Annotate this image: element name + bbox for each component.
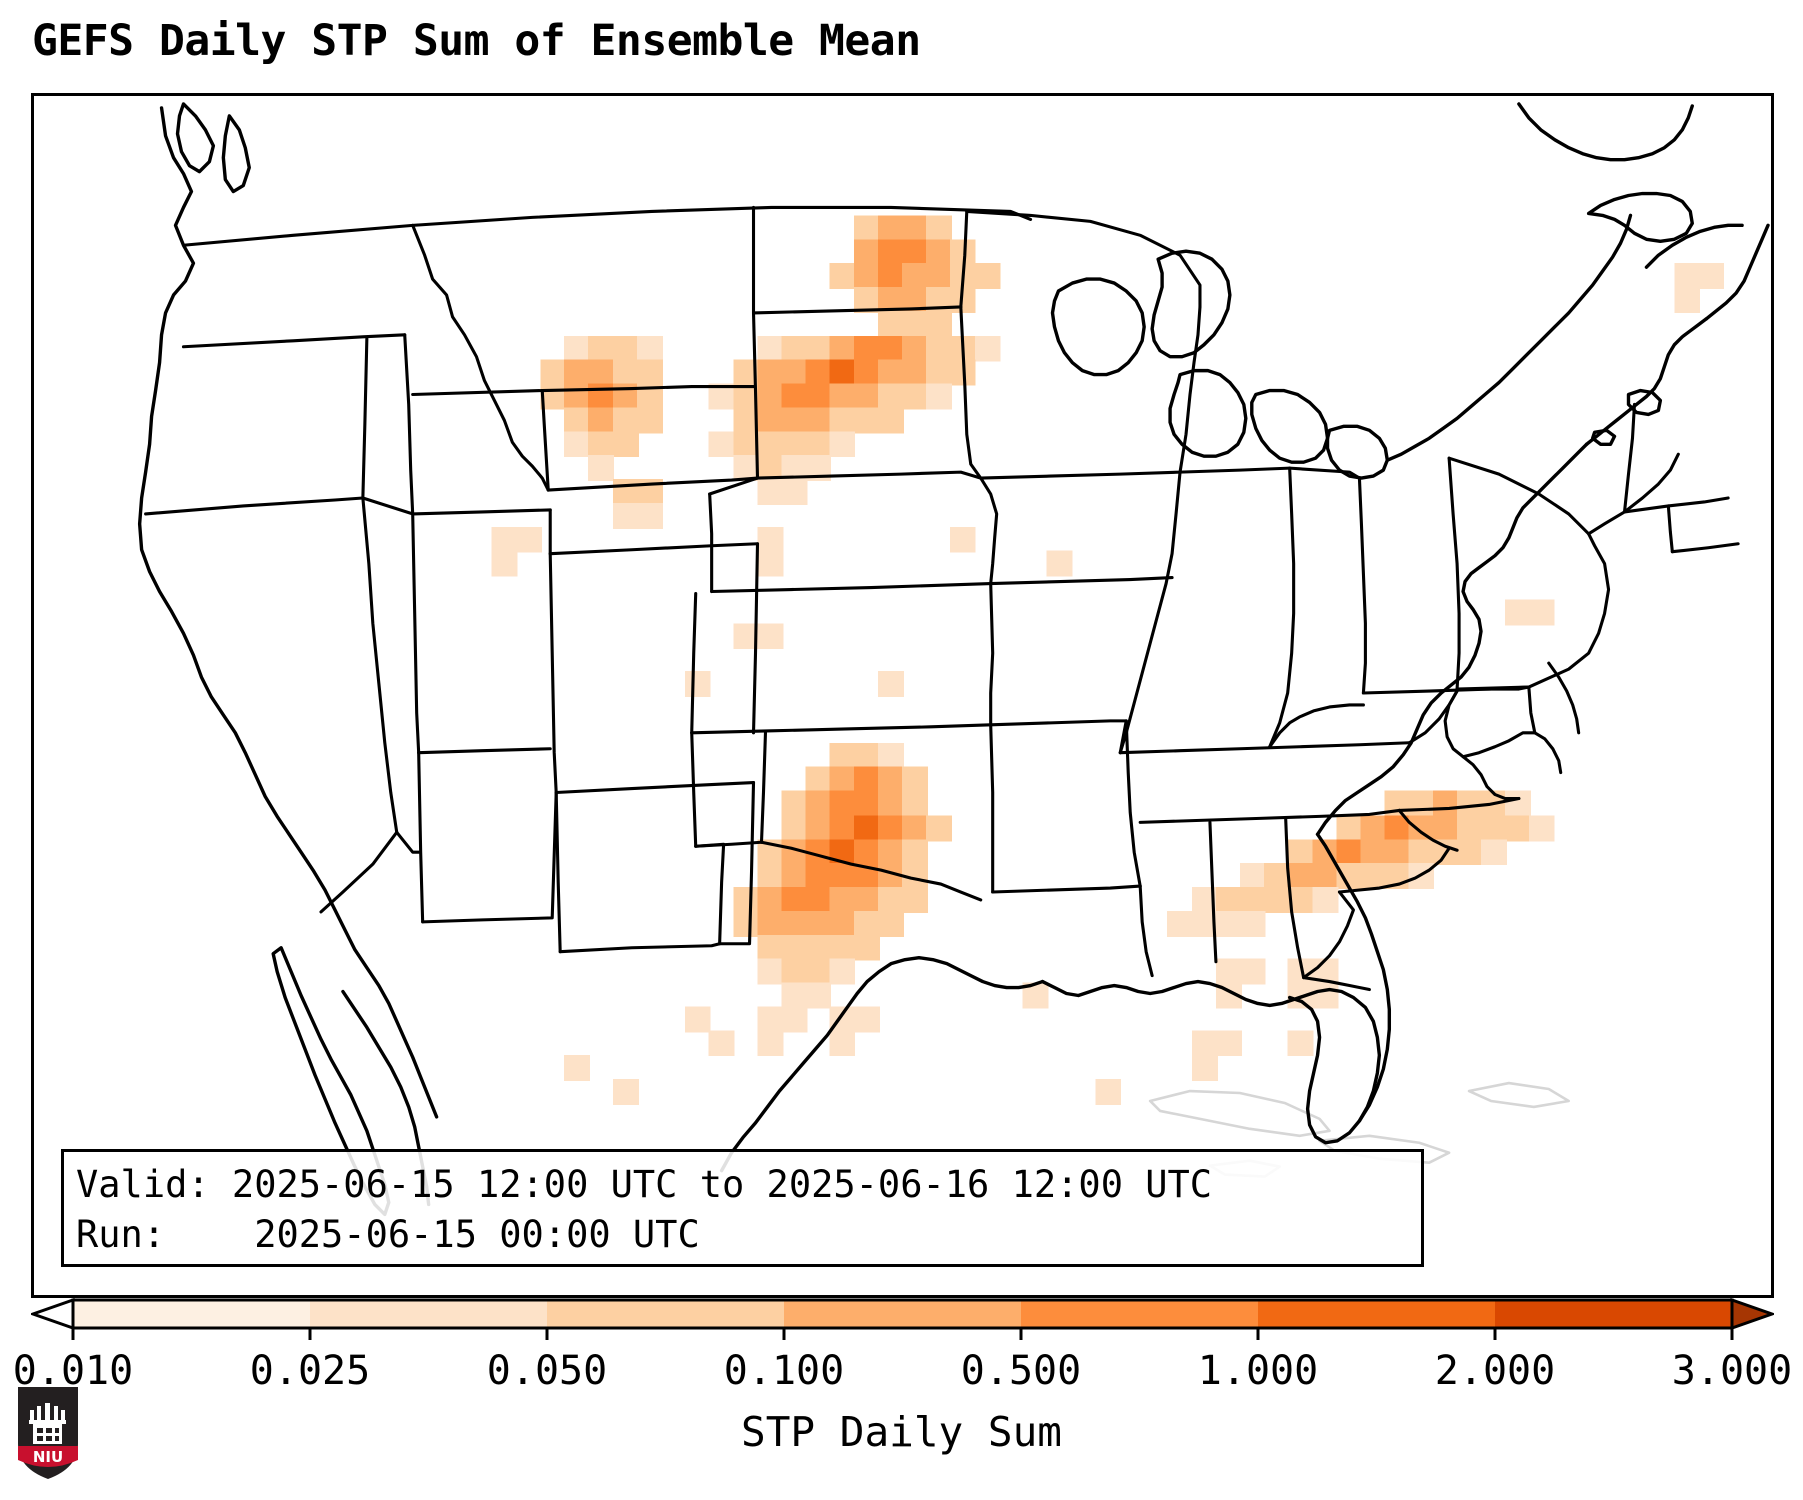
state-borders bbox=[146, 207, 1738, 989]
info-box: Valid: 2025-06-15 12:00 UTC to 2025-06-1… bbox=[61, 1149, 1424, 1267]
us-canada-mexico-coastlines bbox=[140, 104, 1768, 1214]
valid-time-text: Valid: 2025-06-15 12:00 UTC to 2025-06-1… bbox=[76, 1160, 1421, 1210]
run-time-text: Run: 2025-06-15 00:00 UTC bbox=[76, 1210, 1421, 1260]
colorbar-tick-label: 3.000 bbox=[1672, 1348, 1792, 1394]
colorbar-band bbox=[1495, 1300, 1733, 1328]
colorbar-tick-label: 0.500 bbox=[961, 1348, 1081, 1394]
colorbar-tick-label: 1.000 bbox=[1198, 1348, 1318, 1394]
map-geography-overlay bbox=[34, 96, 1771, 1295]
colorbar-tick-labels: 0.0100.0250.0500.1000.5001.0002.0003.000 bbox=[0, 1348, 1803, 1398]
colorbar-band bbox=[547, 1300, 785, 1328]
colorbar-tick-label: 2.000 bbox=[1435, 1348, 1555, 1394]
colorbar-extend-max bbox=[1732, 1300, 1772, 1328]
colorbar-tick-label: 0.050 bbox=[487, 1348, 607, 1394]
colorbar-band bbox=[1258, 1300, 1496, 1328]
colorbar-band bbox=[784, 1300, 1022, 1328]
colorbar-band bbox=[310, 1300, 548, 1328]
colorbar-tick-label: 0.100 bbox=[724, 1348, 844, 1394]
niu-logo-text: NIU bbox=[33, 1448, 63, 1466]
page-title: GEFS Daily STP Sum of Ensemble Mean bbox=[32, 16, 921, 66]
colorbar-band bbox=[73, 1300, 311, 1328]
map-figure: GEFS Daily STP Sum of Ensemble Mean bbox=[0, 0, 1803, 1500]
colorbar-tick-label: 0.025 bbox=[250, 1348, 370, 1394]
colorbar-band bbox=[1021, 1300, 1259, 1328]
colorbar-axis-label: STP Daily Sum bbox=[0, 1408, 1803, 1456]
map-panel bbox=[31, 93, 1774, 1298]
colorbar-extend-min bbox=[33, 1300, 73, 1328]
colorbar bbox=[31, 1298, 1774, 1330]
niu-logo: NIU bbox=[14, 1384, 82, 1482]
